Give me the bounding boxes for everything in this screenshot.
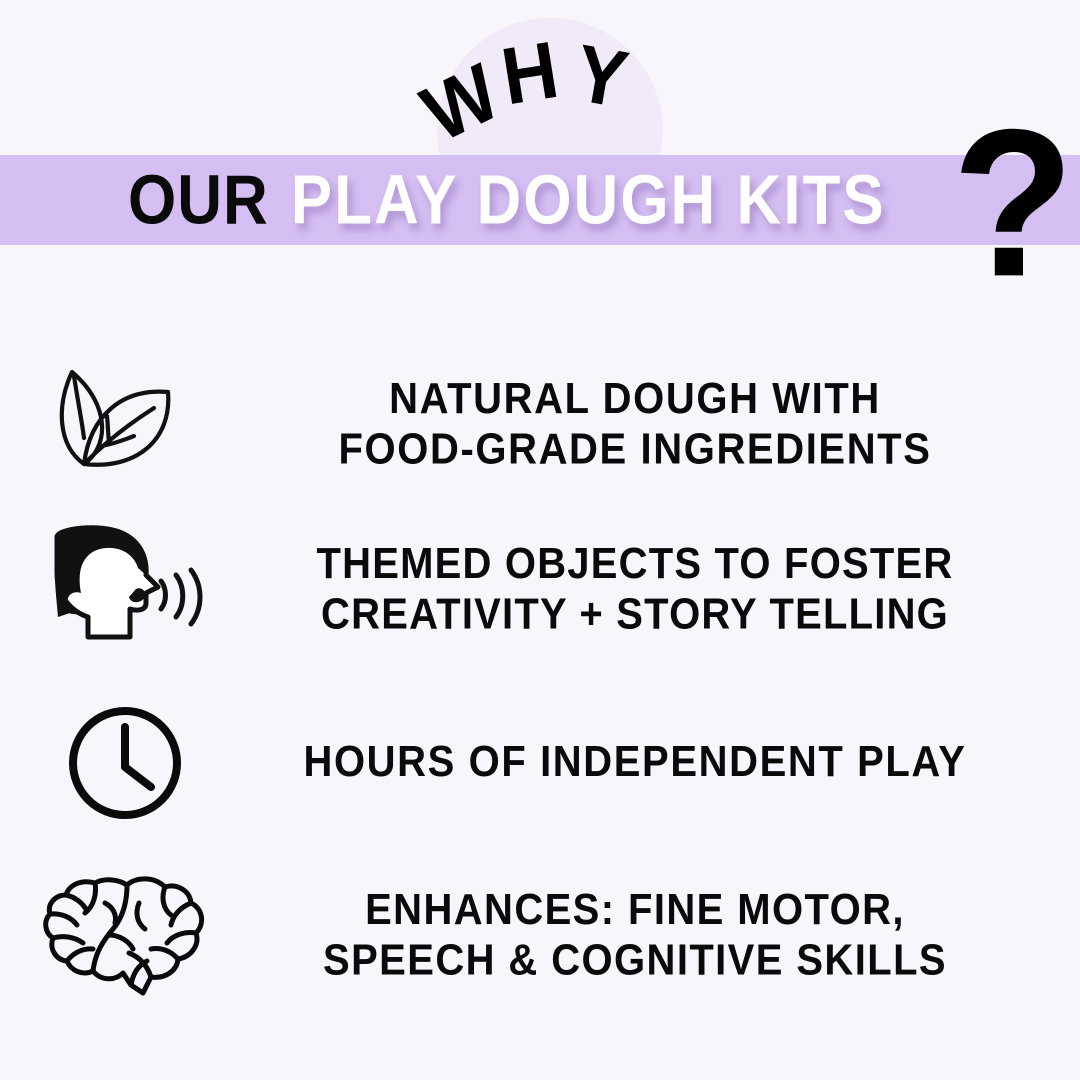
feature-line: NATURAL DOUGH WITH — [250, 375, 1020, 425]
feature-line: FOOD-GRADE INGREDIENTS — [250, 425, 1020, 475]
brain-icon — [0, 861, 250, 1011]
leaf-icon — [0, 350, 250, 500]
clock-icon — [0, 688, 250, 838]
feature-text-themed-objects: THEMED OBJECTS TO FOSTER CREATIVITY + ST… — [250, 540, 1080, 640]
feature-text-independent-play: HOURS OF INDEPENDENT PLAY — [250, 738, 1080, 788]
why-letter-3: Y — [569, 33, 633, 121]
feature-line: ENHANCES: FINE MOTOR, — [250, 885, 1020, 935]
speaking-head-icon — [0, 515, 250, 665]
banner-prefix-text: OUR — [128, 160, 269, 240]
feature-row-independent-play: HOURS OF INDEPENDENT PLAY — [0, 688, 1080, 838]
feature-row-enhances-skills: ENHANCES: FINE MOTOR, SPEECH & COGNITIVE… — [0, 858, 1080, 1013]
header-section: W H Y OUR PLAY DOUGH KITS ? — [0, 0, 1080, 300]
feature-line: THEMED OBJECTS TO FOSTER — [250, 540, 1020, 590]
why-arched-word: W H Y — [0, 0, 1080, 160]
feature-line: SPEECH & COGNITIVE SKILLS — [250, 936, 1020, 986]
feature-row-natural-dough: NATURAL DOUGH WITH FOOD-GRADE INGREDIENT… — [0, 350, 1080, 500]
banner-highlight-text: PLAY DOUGH KITS — [291, 160, 886, 240]
feature-text-natural-dough: NATURAL DOUGH WITH FOOD-GRADE INGREDIENT… — [250, 375, 1080, 475]
feature-row-themed-objects: THEMED OBJECTS TO FOSTER CREATIVITY + ST… — [0, 515, 1080, 665]
feature-text-enhances-skills: ENHANCES: FINE MOTOR, SPEECH & COGNITIVE… — [250, 885, 1080, 985]
banner-heading: OUR PLAY DOUGH KITS — [0, 155, 1080, 245]
feature-list: NATURAL DOUGH WITH FOOD-GRADE INGREDIENT… — [0, 330, 1080, 1030]
why-letter-1: W — [411, 52, 511, 156]
why-letter-2: H — [497, 30, 564, 118]
feature-line: CREATIVITY + STORY TELLING — [250, 590, 1020, 640]
question-mark-glyph: ? — [952, 99, 1074, 309]
feature-line: HOURS OF INDEPENDENT PLAY — [250, 738, 1020, 788]
